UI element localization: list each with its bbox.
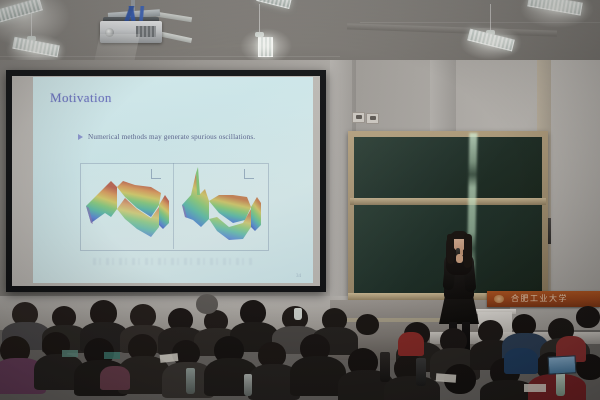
blackboard-ledge [350, 198, 546, 205]
presentation-slide: Motivation Numerical methods may generat… [33, 77, 313, 283]
thermos [416, 358, 426, 386]
notebook-page [436, 373, 457, 382]
audience-head [196, 294, 218, 314]
water-bottle [244, 374, 252, 396]
slide-page-number: 34 [296, 274, 301, 279]
figure-caption-blurred [93, 258, 253, 265]
blackboard-panel-top [354, 137, 542, 199]
audience-pink-top [100, 366, 130, 390]
pendant-rod [259, 4, 260, 34]
projector-vent [136, 26, 156, 37]
presenter-hand [456, 254, 463, 263]
audience-area [0, 292, 600, 400]
audience-head [356, 314, 379, 335]
pendant-rod [490, 4, 491, 32]
audience-red-jacket [398, 332, 424, 356]
audience-blue-jacket [504, 348, 538, 374]
thermos [380, 352, 390, 382]
wall-outlet [366, 113, 379, 124]
notebook-page [62, 350, 78, 357]
right-surface-oscillatory [182, 167, 261, 240]
figure-surface-plots [33, 77, 313, 283]
audience-shoulders [384, 376, 440, 400]
ceiling-light-fixture [258, 37, 273, 57]
lecture-hall-screenshot: Motivation Numerical methods may generat… [0, 0, 600, 400]
water-bottle [556, 372, 565, 396]
presenter-hair-right [464, 234, 472, 268]
presenter-hair-left [447, 234, 454, 264]
pendant-rod [31, 12, 32, 38]
water-bottle [186, 368, 195, 394]
notebook-page [104, 352, 120, 359]
laptop-screen [548, 355, 577, 374]
wall-outlet [352, 112, 365, 123]
notebook-page [524, 384, 546, 392]
audience-head [576, 306, 600, 328]
left-surface-smooth [86, 181, 169, 237]
ceiling-seam [360, 22, 600, 23]
projector-lens [105, 28, 114, 37]
cup [294, 308, 302, 320]
